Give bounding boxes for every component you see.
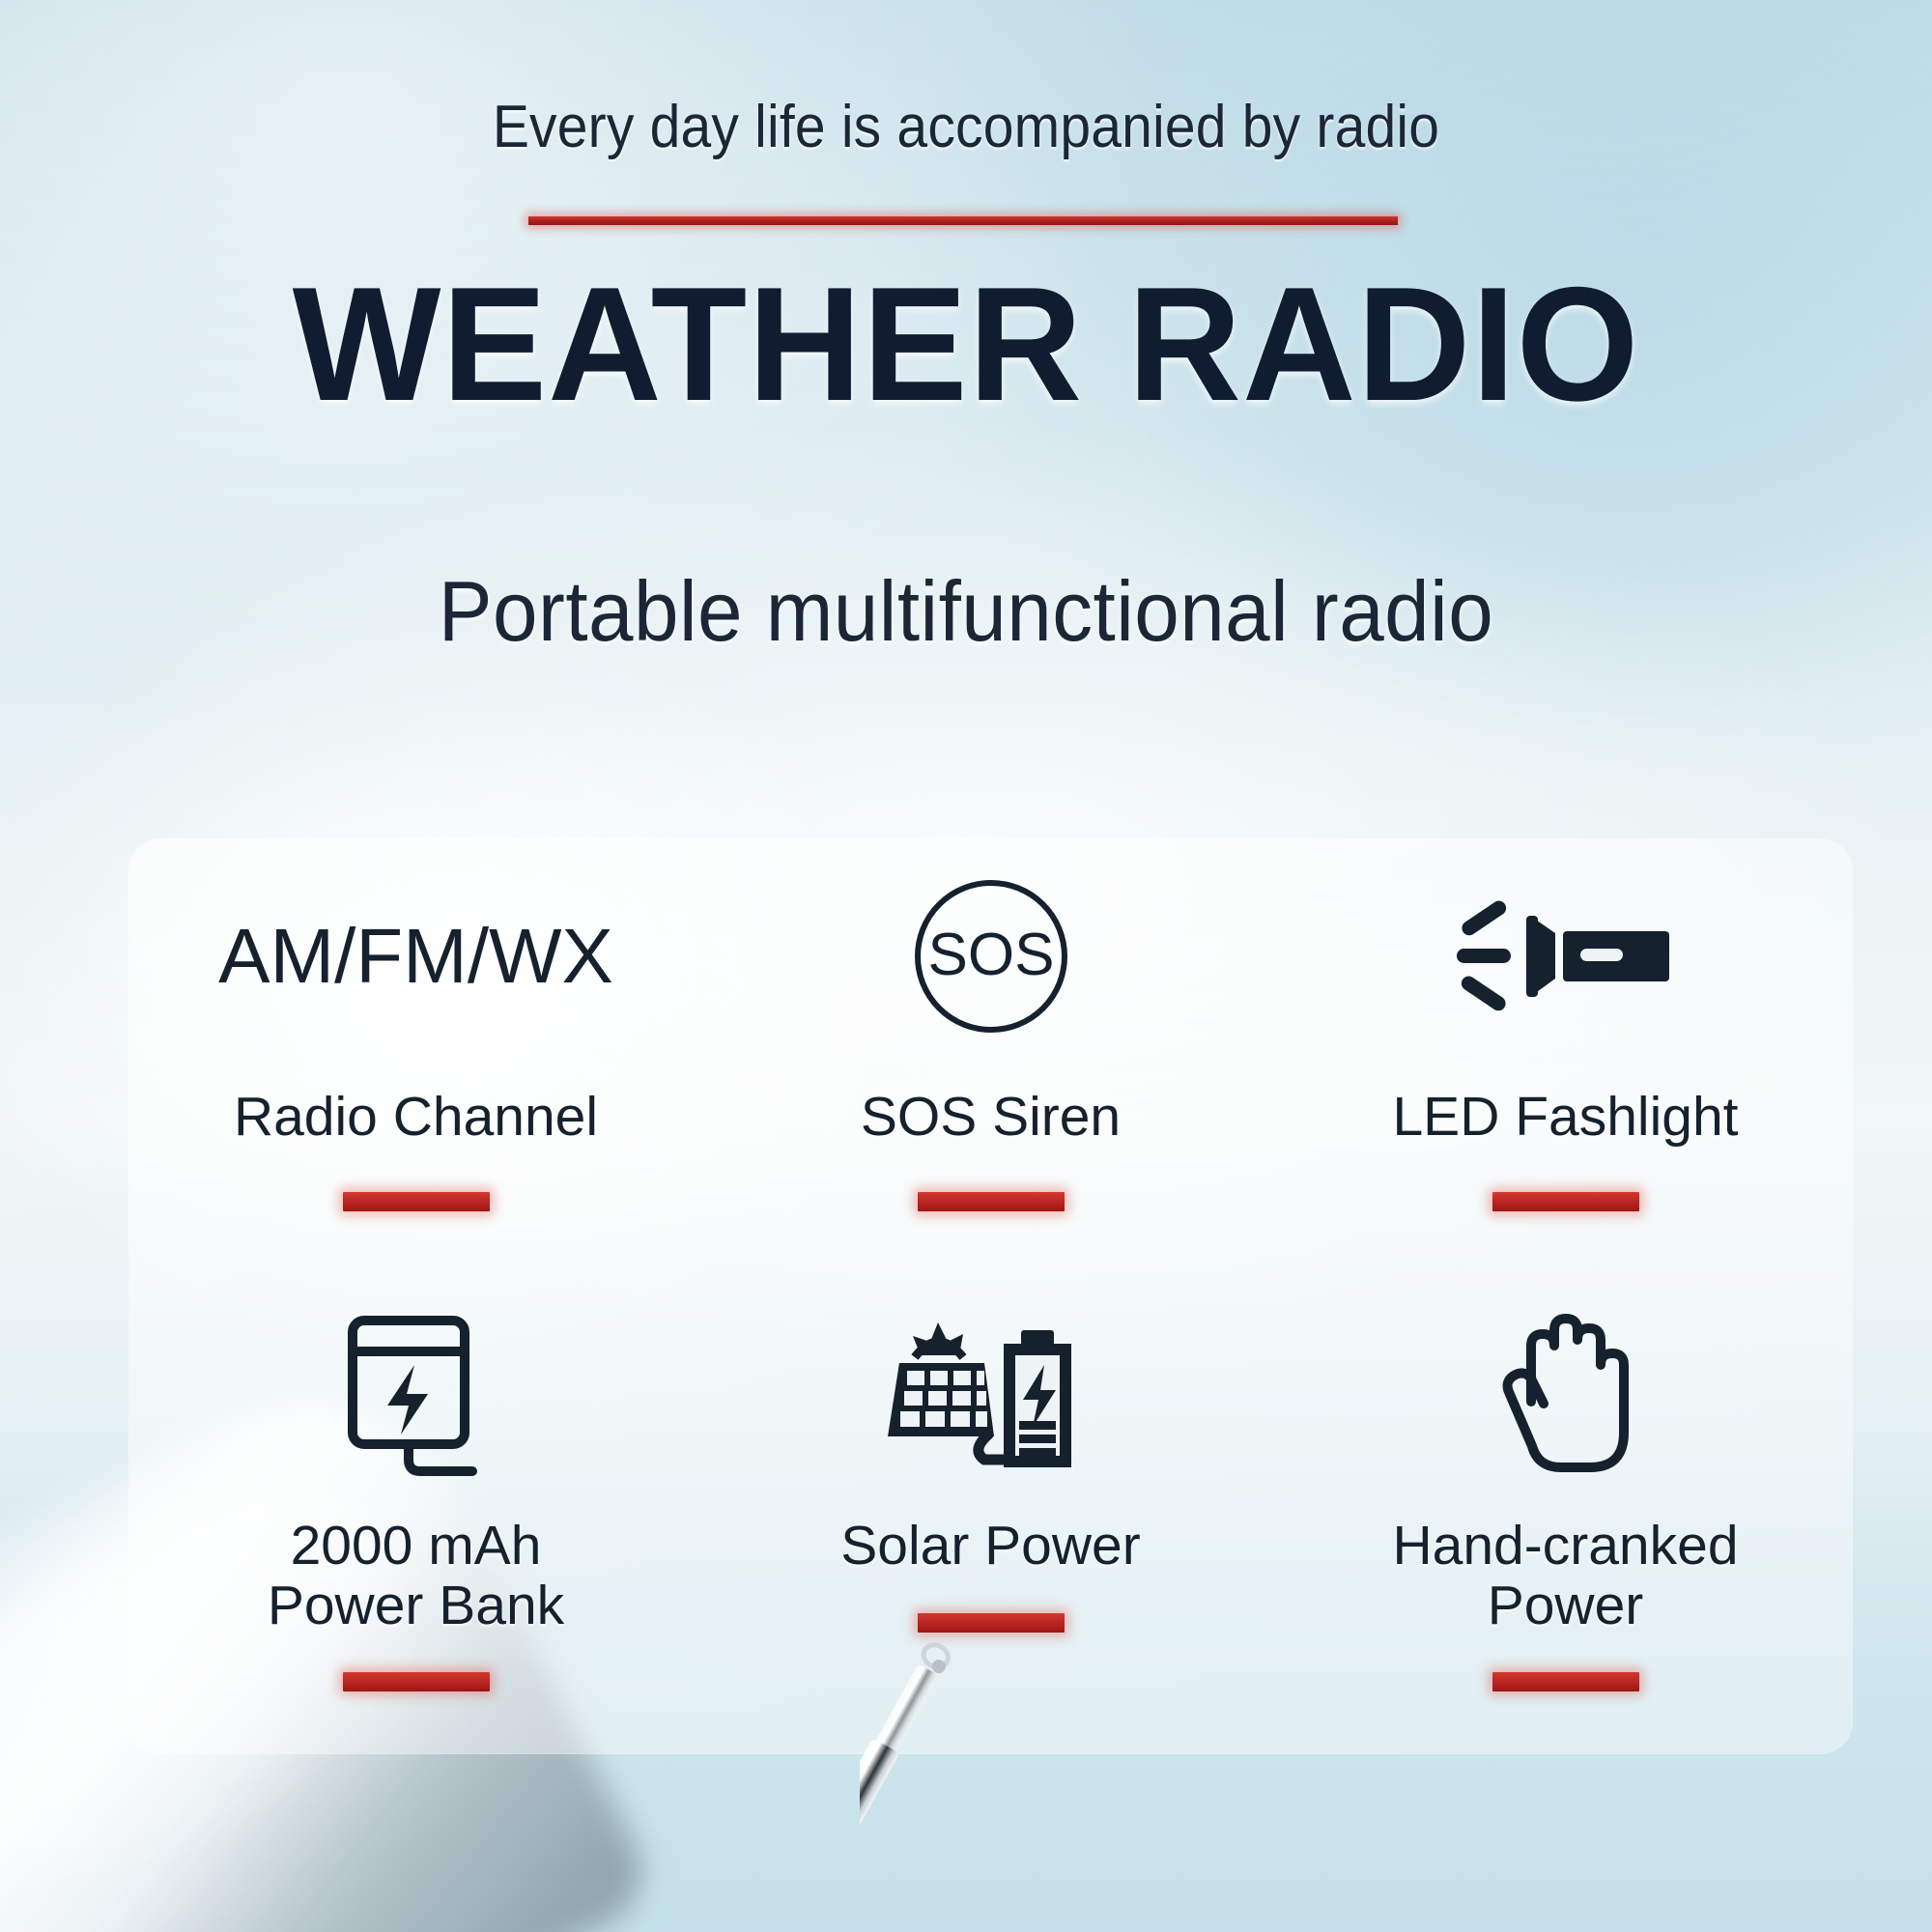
feature-label: 2000 mAh Power Bank bbox=[268, 1517, 564, 1635]
hand-icon bbox=[1486, 1306, 1645, 1488]
solar-battery-icon bbox=[870, 1306, 1112, 1488]
tagline-divider bbox=[528, 216, 1398, 225]
accent-bar bbox=[1492, 1192, 1639, 1211]
am-fm-wx-text-icon: AM/FM/WX bbox=[218, 866, 613, 1047]
accent-bar bbox=[343, 1672, 490, 1691]
accent-bar bbox=[1492, 1672, 1639, 1691]
flashlight-icon bbox=[1455, 866, 1677, 1047]
page-title: WEATHER RADIO bbox=[29, 263, 1903, 425]
am-fm-wx-label: AM/FM/WX bbox=[218, 918, 613, 995]
power-bank-icon bbox=[331, 1306, 500, 1488]
accent-bar bbox=[918, 1613, 1065, 1633]
accent-bar bbox=[918, 1192, 1065, 1211]
svg-text:SOS: SOS bbox=[927, 922, 1054, 988]
feature-item-led-flashlight[interactable]: LED Fashlight bbox=[1278, 838, 1853, 1296]
accent-bar bbox=[343, 1192, 490, 1211]
feature-label: LED Fashlight bbox=[1392, 1088, 1738, 1148]
feature-label: Radio Channel bbox=[234, 1088, 598, 1148]
feature-card: AM/FM/WX Radio Channel SOS SOS Siren bbox=[128, 838, 1853, 1754]
feature-item-radio-channel[interactable]: AM/FM/WX Radio Channel bbox=[128, 838, 703, 1296]
page-subtitle: Portable multifunctional radio bbox=[48, 562, 1884, 661]
feature-label: SOS Siren bbox=[861, 1088, 1121, 1148]
feature-label: Solar Power bbox=[840, 1517, 1140, 1577]
sos-circle-icon: SOS bbox=[909, 866, 1073, 1047]
feature-item-power-bank[interactable]: 2000 mAh Power Bank bbox=[128, 1296, 703, 1754]
feature-grid: AM/FM/WX Radio Channel SOS SOS Siren bbox=[128, 838, 1853, 1754]
feature-item-sos-siren[interactable]: SOS SOS Siren bbox=[703, 838, 1278, 1296]
feature-item-solar-power[interactable]: Solar Power bbox=[703, 1296, 1278, 1754]
tagline: Every day life is accompanied by radio bbox=[77, 93, 1855, 161]
product-banner: Every day life is accompanied by radio W… bbox=[0, 0, 1932, 1932]
feature-item-hand-cranked[interactable]: Hand-cranked Power bbox=[1278, 1296, 1853, 1754]
feature-label: Hand-cranked Power bbox=[1392, 1517, 1738, 1635]
